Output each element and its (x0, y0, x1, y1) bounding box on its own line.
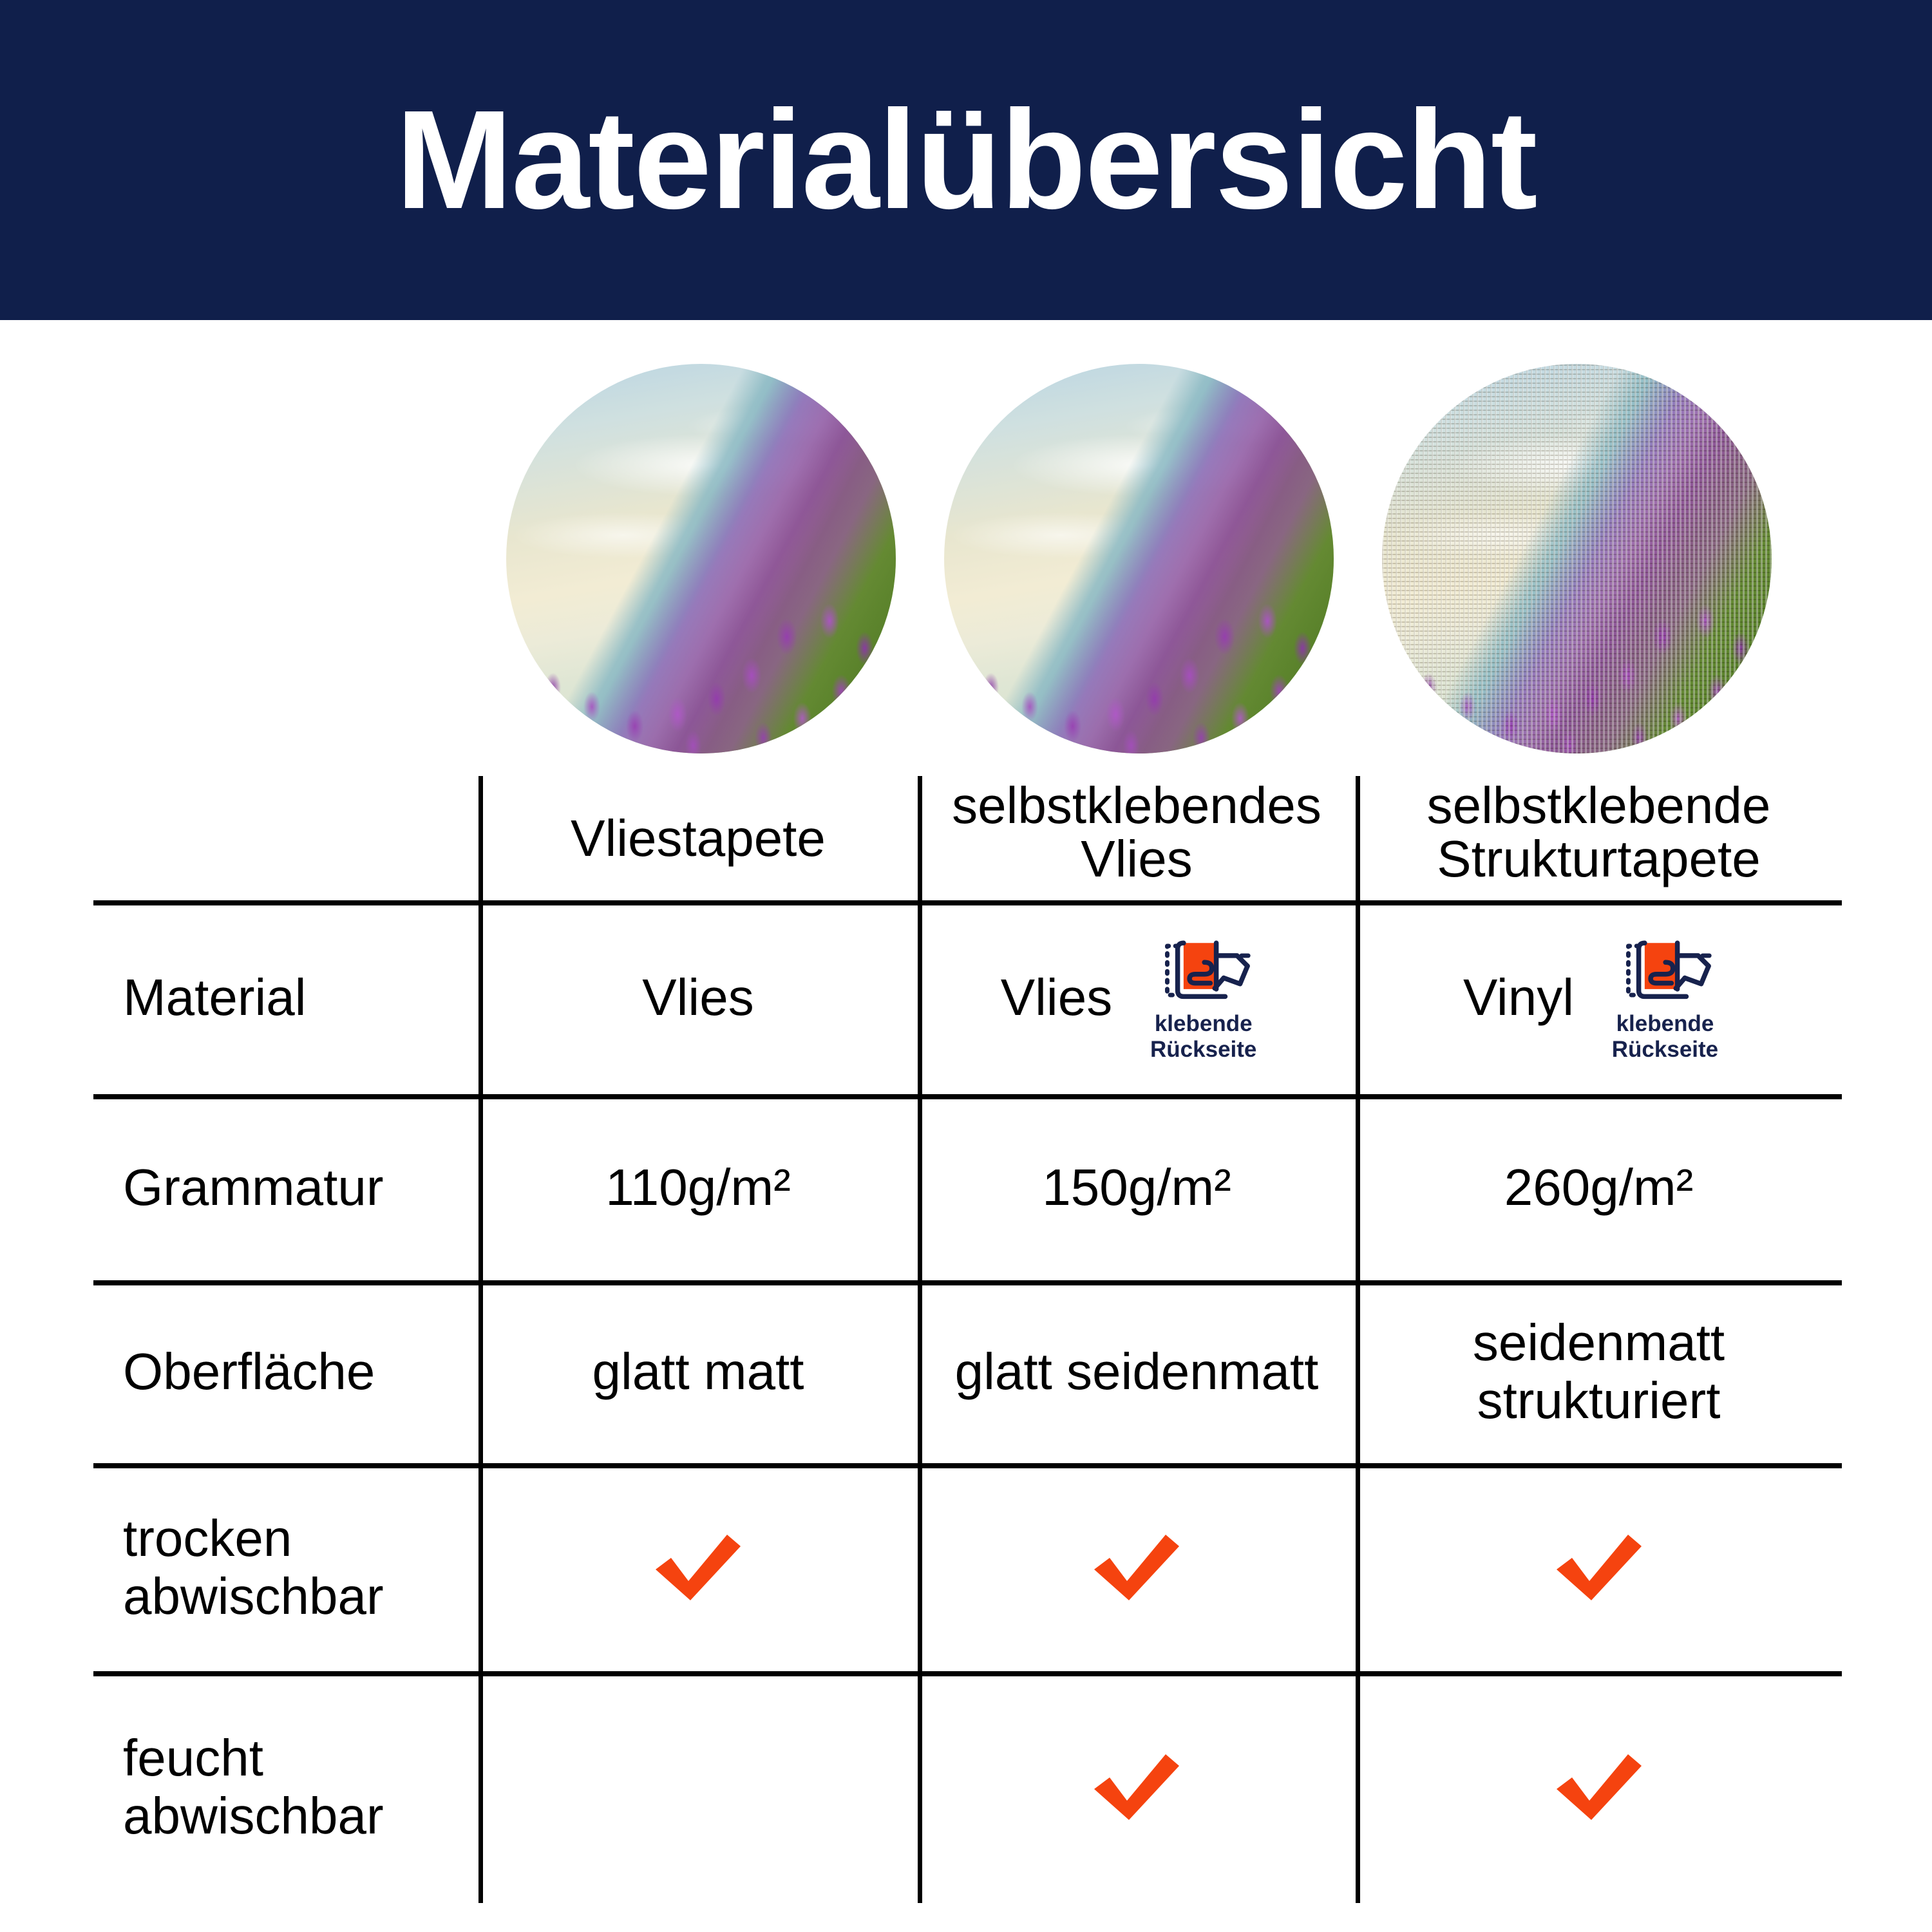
cell-oberflaeche-vliestapete: glatt matt (478, 1280, 918, 1463)
page-title: Materialübersicht (395, 90, 1536, 231)
cell-feucht-strukturtapete (1356, 1671, 1842, 1903)
checkmark-icon (650, 1529, 746, 1606)
adhesive-backing-icon (1155, 933, 1252, 1009)
preview-circle-vliestapete (506, 364, 896, 753)
table-row-grammatur: Grammatur 110g/m² 150g/m² 260g/m² (93, 1094, 1842, 1280)
preview-circle-strukturtapete (1382, 364, 1772, 753)
cell-trocken-vliestapete (478, 1463, 918, 1671)
cell-grammatur-strukturtapete: 260g/m² (1356, 1094, 1842, 1280)
row-label-feucht-abwischbar: feucht abwischbar (93, 1671, 478, 1903)
header-corner-cell (93, 776, 478, 900)
no-check-placeholder (478, 1787, 918, 1788)
adhesive-backing-badge: klebendeRückseite (1134, 933, 1273, 1062)
page-header: Materialübersicht (0, 0, 1932, 320)
column-header-vliestapete: Vliestapete (478, 776, 918, 900)
column-header-strukturtapete: selbstklebende Strukturtapete (1356, 776, 1842, 900)
cell-value: Vlies (1001, 969, 1112, 1027)
table-row-material: Material Vlies Vlies (93, 900, 1842, 1094)
lavender-field-photo (944, 364, 1334, 753)
cell-grammatur-vliestapete: 110g/m² (478, 1094, 918, 1280)
badge-text: klebendeRückseite (1612, 1011, 1718, 1062)
checkmark-icon (1088, 1748, 1185, 1826)
adhesive-backing-badge: klebendeRückseite (1596, 933, 1734, 1062)
table-row-oberflaeche: Oberfläche glatt matt glatt seidenmatt s… (93, 1280, 1842, 1463)
cell-feucht-vliestapete (478, 1671, 918, 1903)
row-label-material: Material (93, 900, 478, 1094)
cell-oberflaeche-selbstklebendes-vlies: glatt seidenmatt (918, 1280, 1356, 1463)
adhesive-backing-icon (1616, 933, 1713, 1009)
row-label-grammatur: Grammatur (93, 1094, 478, 1280)
lavender-field-photo (506, 364, 896, 753)
row-label-oberflaeche: Oberfläche (93, 1280, 478, 1463)
cell-value: Vinyl (1463, 969, 1574, 1027)
table-row-trocken-abwischbar: trocken abwischbar (93, 1463, 1842, 1671)
cell-trocken-selbstklebendes-vlies (918, 1463, 1356, 1671)
checkmark-icon (1551, 1748, 1647, 1826)
cell-trocken-strukturtapete (1356, 1463, 1842, 1671)
table-row-feucht-abwischbar: feucht abwischbar (93, 1671, 1842, 1903)
cell-material-selbstklebendes-vlies: Vlies (918, 900, 1356, 1094)
cell-oberflaeche-strukturtapete: seidenmatt strukturiert (1356, 1280, 1842, 1463)
badge-text: klebendeRückseite (1150, 1011, 1256, 1062)
checkmark-icon (1088, 1529, 1185, 1606)
row-label-trocken-abwischbar: trocken abwischbar (93, 1463, 478, 1671)
column-header-selbstklebendes-vlies: selbstklebendes Vlies (918, 776, 1356, 900)
woven-highlight-overlay (1382, 364, 1772, 753)
preview-circle-selbstklebendes-vlies (944, 364, 1334, 753)
cell-material-vliestapete: Vlies (478, 900, 918, 1094)
cell-material-strukturtapete: Vinyl (1356, 900, 1842, 1094)
material-comparison-table: Vliestapete selbstklebendes Vlies selbst… (93, 776, 1842, 1903)
cell-feucht-selbstklebendes-vlies (918, 1671, 1356, 1903)
cell-grammatur-selbstklebendes-vlies: 150g/m² (918, 1094, 1356, 1280)
table-header-row: Vliestapete selbstklebendes Vlies selbst… (93, 776, 1842, 900)
checkmark-icon (1551, 1529, 1647, 1606)
